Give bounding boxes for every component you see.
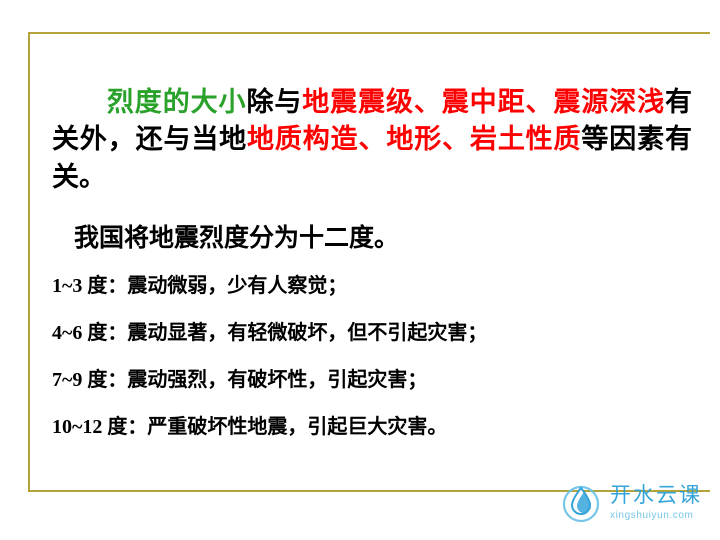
decorative-line-top — [28, 32, 710, 34]
list-item: 1~3 度：震动微弱，少有人察觉； — [52, 274, 692, 299]
text-seg-factors-primary: 地震震级、震中距、震源深浅 — [302, 87, 665, 117]
text-seg-except-with: 除与 — [246, 87, 302, 117]
degree-description: 度：震动显著，有轻微破坏，但不引起灾害； — [87, 322, 487, 344]
list-item: 4~6 度：震动显著，有轻微破坏，但不引起灾害； — [52, 321, 692, 346]
text-seg-factors-secondary: 地质构造、地形、岩土性质 — [247, 124, 581, 154]
logo-text: 开水云课 xingshuiyun.com — [610, 485, 702, 520]
water-drop-icon — [558, 480, 604, 526]
list-item: 7~9 度：震动强烈，有破坏性，引起灾害； — [52, 368, 692, 393]
logo-title-en: xingshuiyun.com — [610, 510, 702, 521]
logo-title-cn: 开水云课 — [610, 485, 702, 507]
paragraph-twelve-degrees: 我国将地震烈度分为十二度。 — [52, 218, 692, 254]
text-seg-intensity-magnitude: 烈度的大小 — [106, 87, 246, 117]
degree-range: 4~6 — [52, 322, 82, 344]
slide-canvas: 烈度的大小除与地震震级、震中距、震源深浅有关外，还与当地地质构造、地形、岩土性质… — [0, 0, 720, 540]
degree-range: 7~9 — [52, 369, 82, 391]
degree-description: 度：震动强烈，有破坏性，引起灾害； — [87, 369, 427, 391]
degree-description: 度：震动微弱，少有人察觉； — [87, 275, 347, 297]
degree-range: 1~3 — [52, 275, 82, 297]
decorative-line-left — [28, 32, 30, 492]
list-item: 10~12 度：严重破坏性地震，引起巨大灾害。 — [52, 415, 692, 440]
paragraph-intensity-factors: 烈度的大小除与地震震级、震中距、震源深浅有关外，还与当地地质构造、地形、岩土性质… — [52, 84, 692, 196]
intensity-degree-list: 1~3 度：震动微弱，少有人察觉； 4~6 度：震动显著，有轻微破坏，但不引起灾… — [52, 274, 692, 440]
slide-content: 烈度的大小除与地震震级、震中距、震源深浅有关外，还与当地地质构造、地形、岩土性质… — [52, 84, 692, 462]
degree-description: 度：严重破坏性地震，引起巨大灾害。 — [107, 416, 447, 438]
degree-range: 10~12 — [52, 416, 102, 438]
watermark-logo: 开水云课 xingshuiyun.com — [558, 480, 702, 526]
